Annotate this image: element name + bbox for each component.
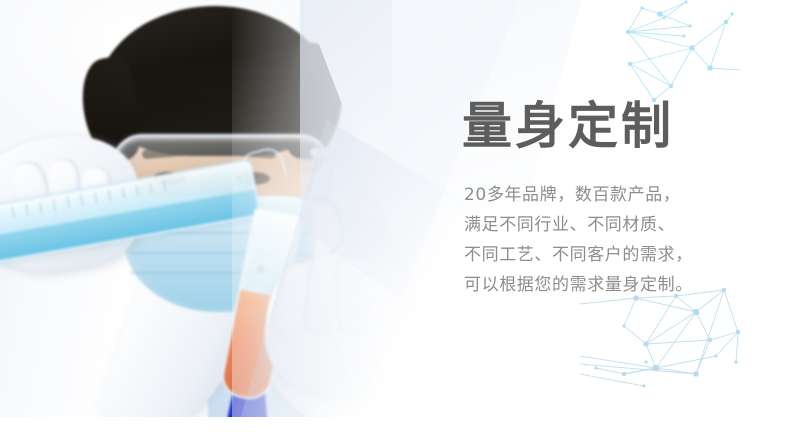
network-node bbox=[735, 361, 738, 364]
network-edge bbox=[664, 2, 686, 18]
network-edge bbox=[636, 298, 696, 312]
cylinder-tick bbox=[53, 200, 56, 211]
network-node bbox=[694, 372, 699, 377]
network-edge bbox=[642, 8, 660, 14]
cylinder-tick bbox=[81, 195, 84, 206]
network-edge bbox=[580, 374, 644, 386]
network-node bbox=[708, 66, 713, 71]
network-node bbox=[693, 309, 699, 315]
network-edge bbox=[624, 326, 646, 344]
description-line: 20多年品牌，数百款产品， bbox=[464, 180, 762, 210]
network-edge bbox=[630, 64, 671, 86]
network-node bbox=[724, 20, 728, 24]
page-title: 量身定制 bbox=[462, 96, 762, 156]
network-edge bbox=[710, 332, 738, 340]
network-edge bbox=[660, 14, 690, 26]
cylinder-tick bbox=[67, 197, 70, 208]
cylinder-tick bbox=[94, 192, 97, 203]
network-edge bbox=[656, 368, 696, 374]
network-edge bbox=[596, 368, 624, 374]
cylinder-tick bbox=[12, 207, 15, 218]
network-edge bbox=[628, 18, 664, 32]
network-node bbox=[644, 342, 649, 347]
network-node bbox=[653, 365, 659, 371]
network-node bbox=[683, 35, 686, 38]
glove-finger bbox=[334, 255, 368, 336]
network-edge bbox=[696, 312, 710, 340]
marketing-copy: 量身定制 20多年品牌，数百款产品， 满足不同行业、不同材质、 不同工艺、不同客… bbox=[462, 96, 762, 300]
promo-banner: ⊙ 量身定制 20多年品牌，数百款产品， 满足不同行业、不同材质、 不同工艺、不… bbox=[0, 0, 800, 439]
network-edge bbox=[692, 22, 726, 48]
network-node bbox=[736, 330, 740, 334]
network-node bbox=[643, 385, 646, 388]
network-node bbox=[623, 325, 626, 328]
network-edge bbox=[646, 344, 656, 368]
cylinder-tick bbox=[163, 180, 166, 191]
bottom-white-strip bbox=[0, 417, 800, 439]
network-node bbox=[622, 372, 626, 376]
network-edge bbox=[716, 332, 738, 356]
network-node bbox=[731, 13, 734, 16]
cylinder-tick bbox=[39, 202, 42, 213]
description-line: 不同工艺、不同客户的需求， bbox=[464, 240, 762, 270]
cylinder-tick bbox=[150, 183, 153, 194]
network-edge bbox=[624, 298, 636, 326]
network-edge bbox=[580, 364, 696, 374]
network-edge bbox=[628, 32, 671, 86]
network-node bbox=[689, 25, 692, 28]
network-edge bbox=[624, 368, 656, 374]
network-edge bbox=[696, 340, 710, 374]
network-edge bbox=[660, 2, 686, 14]
network-node bbox=[628, 62, 632, 66]
network-edge bbox=[671, 48, 692, 86]
network-edge bbox=[624, 368, 656, 374]
network-node bbox=[626, 30, 630, 34]
network-edge bbox=[580, 356, 656, 368]
description-line: 满足不同行业、不同材质、 bbox=[464, 210, 762, 240]
network-edge bbox=[710, 68, 740, 70]
network-node bbox=[708, 338, 712, 342]
network-node bbox=[690, 46, 695, 51]
network-edge bbox=[628, 26, 690, 32]
cylinder-tick bbox=[122, 187, 125, 198]
network-edge bbox=[736, 332, 738, 362]
network-node bbox=[595, 367, 598, 370]
network-node bbox=[669, 84, 673, 88]
cylinder-tick bbox=[25, 204, 28, 215]
network-edge bbox=[656, 356, 716, 368]
network-edge bbox=[710, 22, 726, 68]
network-edge bbox=[630, 64, 654, 100]
description-list: 20多年品牌，数百款产品， 满足不同行业、不同材质、 不同工艺、不同客户的需求，… bbox=[464, 180, 762, 300]
network-edge bbox=[646, 340, 710, 344]
network-node bbox=[645, 361, 648, 364]
cylinder-tick bbox=[108, 190, 111, 201]
network-node bbox=[658, 12, 663, 17]
network-node bbox=[715, 355, 718, 358]
network-edge bbox=[628, 8, 642, 32]
network-edge bbox=[630, 48, 692, 64]
network-node bbox=[685, 1, 688, 4]
network-node bbox=[663, 17, 666, 20]
description-line: 可以根据您的需求量身定制。 bbox=[464, 270, 762, 300]
network-edge bbox=[726, 14, 732, 22]
network-edge bbox=[692, 48, 710, 68]
network-edge bbox=[656, 312, 696, 368]
network-edge bbox=[646, 296, 676, 344]
network-edge bbox=[628, 32, 684, 36]
network-edge bbox=[646, 312, 696, 344]
lab-technician-photo: ⊙ bbox=[0, 0, 470, 417]
cylinder-tick bbox=[136, 185, 139, 196]
network-edge bbox=[628, 32, 692, 48]
network-edge bbox=[696, 290, 724, 374]
network-node bbox=[641, 7, 644, 10]
